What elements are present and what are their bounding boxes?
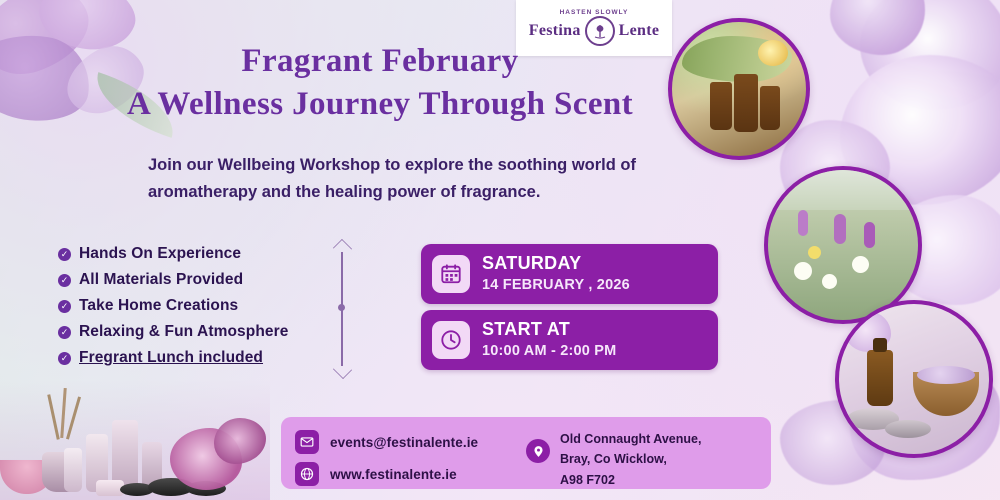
check-icon: ✓ xyxy=(58,300,71,313)
spa-bath-salts-photo xyxy=(835,300,993,458)
address-line-2: Bray, Co Wicklow, xyxy=(560,449,701,469)
event-date-card: SATURDAY 14 FEBRUARY , 2026 xyxy=(421,244,718,304)
list-item: ✓ All Materials Provided xyxy=(58,271,358,289)
list-item-label: Relaxing & Fun Atmosphere xyxy=(79,323,288,341)
event-time-title: START AT xyxy=(482,319,616,340)
check-icon: ✓ xyxy=(58,326,71,339)
logo-word-right: Lente xyxy=(619,22,660,40)
address-line-1: Old Connaught Avenue, xyxy=(560,429,701,449)
list-item: ✓ Take Home Creations xyxy=(58,297,358,315)
clock-icon xyxy=(432,321,470,359)
calendar-icon xyxy=(432,255,470,293)
envelope-icon xyxy=(295,430,319,454)
list-item-label: Hands On Experience xyxy=(79,245,241,263)
logo-word-left: Festina xyxy=(529,22,581,40)
check-icon: ✓ xyxy=(58,274,71,287)
list-item: ✓ Fregrant Lunch included xyxy=(58,349,358,367)
globe-icon xyxy=(295,462,319,486)
list-item: ✓ Hands On Experience xyxy=(58,245,358,263)
headline-block: Fragrant February A Wellness Journey Thr… xyxy=(60,42,700,124)
wildflower-meadow-photo xyxy=(764,166,922,324)
intro-paragraph: Join our Wellbeing Workshop to explore t… xyxy=(148,152,638,205)
bottom-left-product-photo xyxy=(0,380,270,500)
contact-email-row[interactable]: events@festinalente.ie xyxy=(295,430,478,454)
event-time-detail: 10:00 AM - 2:00 PM xyxy=(482,342,616,361)
list-item-label: Fregrant Lunch included xyxy=(79,349,263,367)
headline-line-2: A Wellness Journey Through Scent xyxy=(60,85,700,124)
address-line-3: A98 F702 xyxy=(560,470,701,490)
map-pin-icon xyxy=(526,439,550,463)
list-item: ✓ Relaxing & Fun Atmosphere xyxy=(58,323,358,341)
arrow-divider-ornament xyxy=(330,238,354,380)
check-icon: ✓ xyxy=(58,352,71,365)
check-icon: ✓ xyxy=(58,248,71,261)
contact-email-text: events@festinalente.ie xyxy=(330,435,478,450)
event-date-detail: 14 FEBRUARY , 2026 xyxy=(482,276,630,295)
poster-canvas: HASTEN SLOWLY Festina Lente Fragrant Feb… xyxy=(0,0,1000,500)
list-item-label: Take Home Creations xyxy=(79,297,238,315)
contact-website-row[interactable]: www.festinalente.ie xyxy=(295,462,457,486)
list-item-label: All Materials Provided xyxy=(79,271,243,289)
contact-bar: events@festinalente.ie www.festinalente.… xyxy=(281,417,771,489)
benefits-checklist: ✓ Hands On Experience ✓ All Materials Pr… xyxy=(58,245,358,375)
event-date-title: SATURDAY xyxy=(482,253,630,274)
headline-line-1: Fragrant February xyxy=(60,42,700,81)
contact-address-block: Old Connaught Avenue, Bray, Co Wicklow, … xyxy=(526,429,701,490)
contact-website-text: www.festinalente.ie xyxy=(330,467,457,482)
event-time-card: START AT 10:00 AM - 2:00 PM xyxy=(421,310,718,370)
